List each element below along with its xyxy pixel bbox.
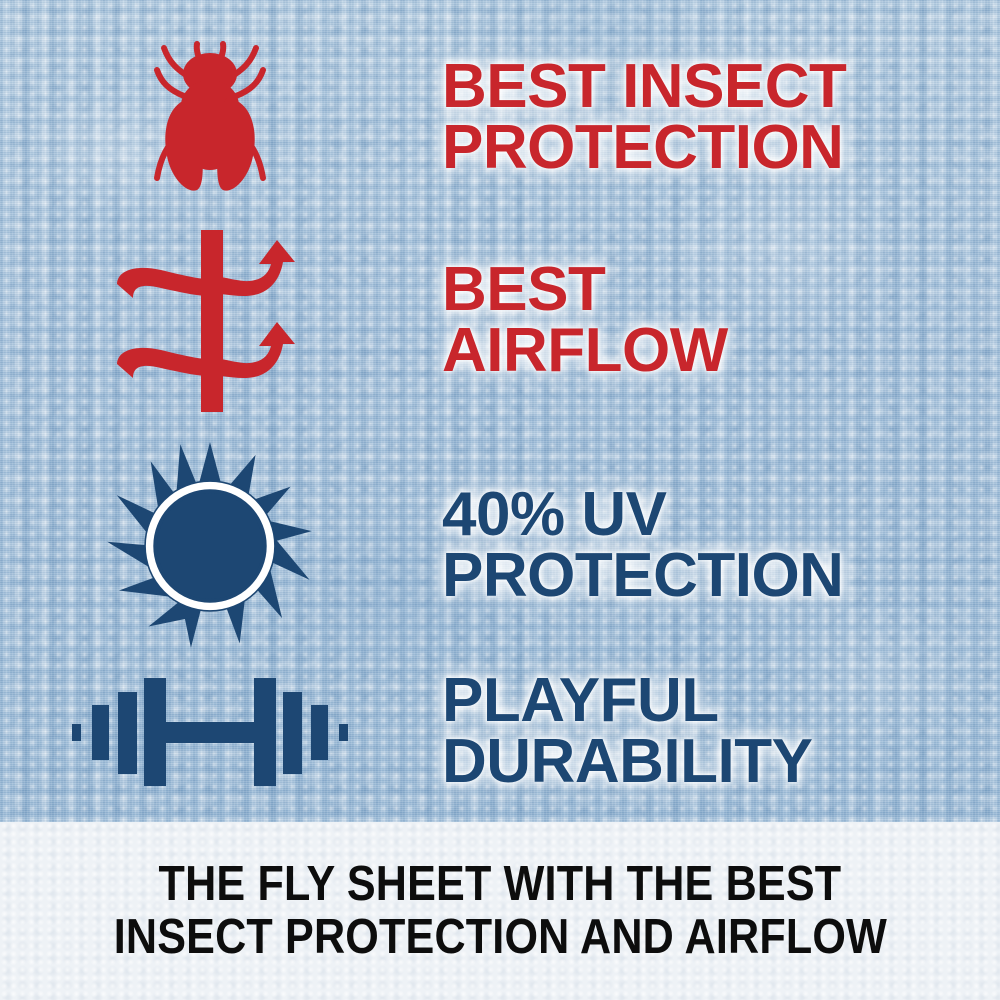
feature-icon-cell xyxy=(0,672,420,792)
feature-title-insect-protection: BEST INSECT PROTECTION xyxy=(442,57,1000,179)
feature-title-uv-protection: 40% UV PROTECTION xyxy=(442,485,1000,607)
banner-headline-line-1: THE FLY SHEET WITH THE BEST xyxy=(159,858,842,911)
feature-title-durability: PLAYFUL DURABILITY xyxy=(442,671,1000,793)
feature-icon-cell xyxy=(0,440,420,652)
feature-row-insect-protection: BEST INSECT PROTECTION xyxy=(0,18,1000,218)
product-feature-poster: BEST INSECT PROTECTION xyxy=(0,0,1000,1000)
feature-row-uv-protection: 40% UV PROTECTION xyxy=(0,432,1000,660)
feature-row-airflow: BEST AIRFLOW xyxy=(0,216,1000,426)
banner-headline-line-2: INSECT PROTECTION AND AIRFLOW xyxy=(113,911,886,964)
feature-text-cell: BEST INSECT PROTECTION xyxy=(420,57,1000,179)
dumbbell-icon xyxy=(70,672,350,792)
feature-icon-cell xyxy=(0,226,420,416)
feature-text-cell: PLAYFUL DURABILITY xyxy=(420,671,1000,793)
feature-text-cell: BEST AIRFLOW xyxy=(420,260,1000,382)
airflow-arrows-icon xyxy=(105,226,315,416)
bottom-banner: THE FLY SHEET WITH THE BEST INSECT PROTE… xyxy=(0,822,1000,1000)
sun-uv-icon xyxy=(104,440,316,652)
fly-icon xyxy=(135,26,285,211)
feature-list: BEST INSECT PROTECTION xyxy=(0,0,1000,822)
feature-text-cell: 40% UV PROTECTION xyxy=(420,485,1000,607)
feature-row-durability: PLAYFUL DURABILITY xyxy=(0,652,1000,812)
feature-icon-cell xyxy=(0,26,420,211)
feature-title-airflow: BEST AIRFLOW xyxy=(442,260,1000,382)
